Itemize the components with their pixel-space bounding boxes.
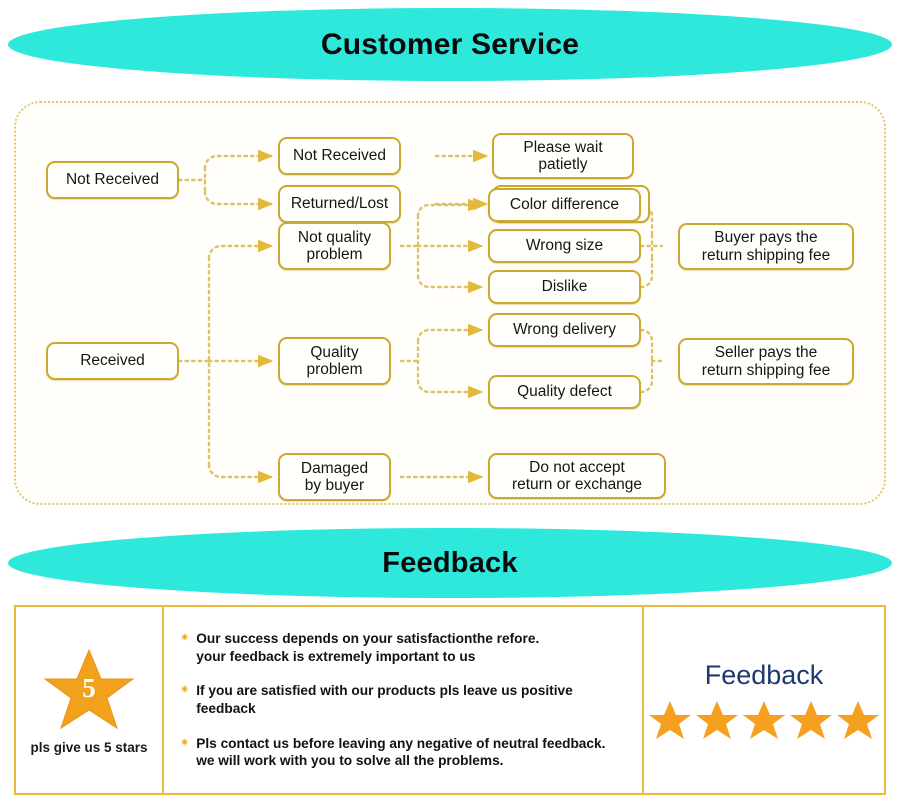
- feedback-rating-cell: Feedback: [644, 607, 884, 793]
- node-label: Please wait patietly: [523, 139, 602, 173]
- node-label: Dislike: [542, 278, 588, 295]
- flow-node-color-difference[interactable]: Color difference: [488, 188, 641, 222]
- bullet-star-icon: ✷: [180, 682, 189, 699]
- five-star-badge: 5: [43, 646, 135, 734]
- feedback-bullets-cell: ✷ Our success depends on your satisfacti…: [164, 607, 644, 793]
- node-label: Not Received: [293, 147, 386, 164]
- flow-node-buyer-pays[interactable]: Buyer pays the return shipping fee: [678, 223, 854, 270]
- list-item: ✷ Pls contact us before leaving any nega…: [180, 735, 628, 770]
- node-label: Do not accept return or exchange: [512, 459, 642, 493]
- flow-node-seller-pays[interactable]: Seller pays the return shipping fee: [678, 338, 854, 385]
- bullet-text: Pls contact us before leaving any negati…: [196, 735, 605, 770]
- star-icon[interactable]: [742, 699, 786, 741]
- node-label: Wrong size: [526, 237, 603, 254]
- flow-node-quality-defect[interactable]: Quality defect: [488, 375, 641, 409]
- flow-node-not-received-sub[interactable]: Not Received: [278, 137, 401, 175]
- flow-node-damaged-by-buyer[interactable]: Damaged by buyer: [278, 453, 391, 501]
- list-item: ✷ Our success depends on your satisfacti…: [180, 630, 628, 665]
- customer-service-title: Customer Service: [321, 28, 579, 62]
- flow-node-no-return[interactable]: Do not accept return or exchange: [488, 453, 666, 499]
- star-number: 5: [43, 673, 135, 704]
- star-caption: pls give us 5 stars: [30, 740, 147, 755]
- bullet-star-icon: ✷: [180, 735, 189, 752]
- node-label: Not Received: [66, 171, 159, 188]
- feedback-banner: Feedback: [8, 528, 892, 598]
- flow-node-wrong-size[interactable]: Wrong size: [488, 229, 641, 263]
- node-label: Returned/Lost: [291, 195, 388, 212]
- star-icon[interactable]: [648, 699, 692, 741]
- star-icon[interactable]: [789, 699, 833, 741]
- flow-node-not-received-root[interactable]: Not Received: [46, 161, 179, 199]
- node-label: Color difference: [510, 196, 619, 213]
- feedback-star-cell: 5 pls give us 5 stars: [16, 607, 164, 793]
- customer-service-banner: Customer Service: [8, 8, 892, 81]
- rating-stars[interactable]: [648, 699, 880, 741]
- node-label: Quality problem: [307, 344, 363, 378]
- bullet-star-icon: ✷: [180, 630, 189, 647]
- flow-node-dislike[interactable]: Dislike: [488, 270, 641, 304]
- star-icon[interactable]: [836, 699, 880, 741]
- flow-node-returned-lost[interactable]: Returned/Lost: [278, 185, 401, 223]
- flow-node-wrong-delivery[interactable]: Wrong delivery: [488, 313, 641, 347]
- bullet-text: If you are satisfied with our products p…: [196, 682, 628, 717]
- node-label: Damaged by buyer: [301, 460, 368, 494]
- flow-node-quality-problem[interactable]: Quality problem: [278, 337, 391, 385]
- list-item: ✷ If you are satisfied with our products…: [180, 682, 628, 717]
- node-label: Not quality problem: [298, 229, 371, 263]
- rating-title: Feedback: [705, 660, 824, 691]
- flowchart-container: Not Received Received Not Received Retur…: [14, 101, 886, 505]
- node-label: Quality defect: [517, 383, 612, 400]
- feedback-title: Feedback: [382, 547, 517, 580]
- node-label: Seller pays the return shipping fee: [702, 344, 830, 378]
- node-label: Buyer pays the return shipping fee: [702, 229, 830, 263]
- bullet-text: Our success depends on your satisfaction…: [196, 630, 539, 665]
- flow-node-not-quality-problem[interactable]: Not quality problem: [278, 222, 391, 270]
- node-label: Wrong delivery: [513, 321, 616, 338]
- page-root: Customer Service: [0, 0, 900, 803]
- star-icon[interactable]: [695, 699, 739, 741]
- feedback-table: 5 pls give us 5 stars ✷ Our success depe…: [14, 605, 886, 795]
- flow-node-received-root[interactable]: Received: [46, 342, 179, 380]
- node-label: Received: [80, 352, 145, 369]
- flow-node-please-wait[interactable]: Please wait patietly: [492, 133, 634, 179]
